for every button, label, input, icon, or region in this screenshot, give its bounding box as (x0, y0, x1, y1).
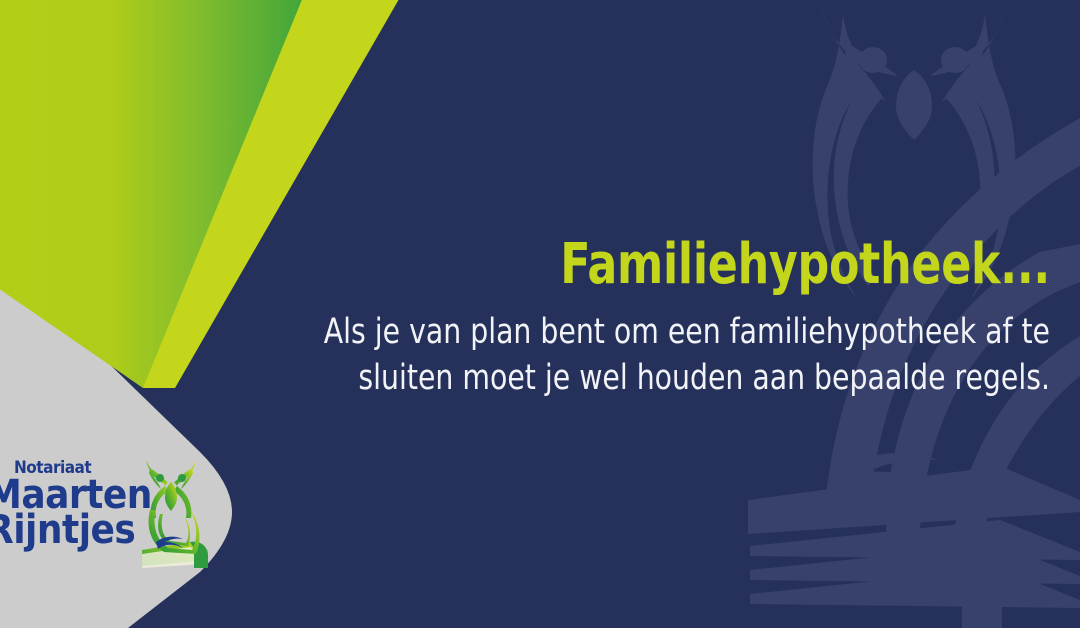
logo-owl-beak-icon (165, 482, 177, 511)
logo-owl-on-book-icon (134, 454, 216, 578)
subcopy-line-2: sluiten moet je wel houden aan bepaalde … (312, 355, 1050, 401)
promo-banner: Familiehypotheek... Als je van plan bent… (0, 0, 1080, 628)
subcopy-line-1: Als je van plan bent om een familiehypot… (312, 309, 1050, 355)
brand-logo[interactable]: Notariaat Maarten Rijntjes (0, 452, 226, 580)
logo-owl-right-head-icon (174, 460, 196, 518)
copy-block: Familiehypotheek... Als je van plan bent… (230, 236, 1050, 401)
logo-name-line-2: Rijntjes (0, 507, 135, 553)
headline: Familiehypotheek... (328, 236, 1050, 293)
logo-owl-left-head-icon (146, 460, 168, 518)
subcopy: Als je van plan bent om een familiehypot… (312, 309, 1050, 401)
logo-owl-left-eye-icon (156, 474, 164, 482)
logo-owl-right-eye-icon (178, 474, 186, 482)
